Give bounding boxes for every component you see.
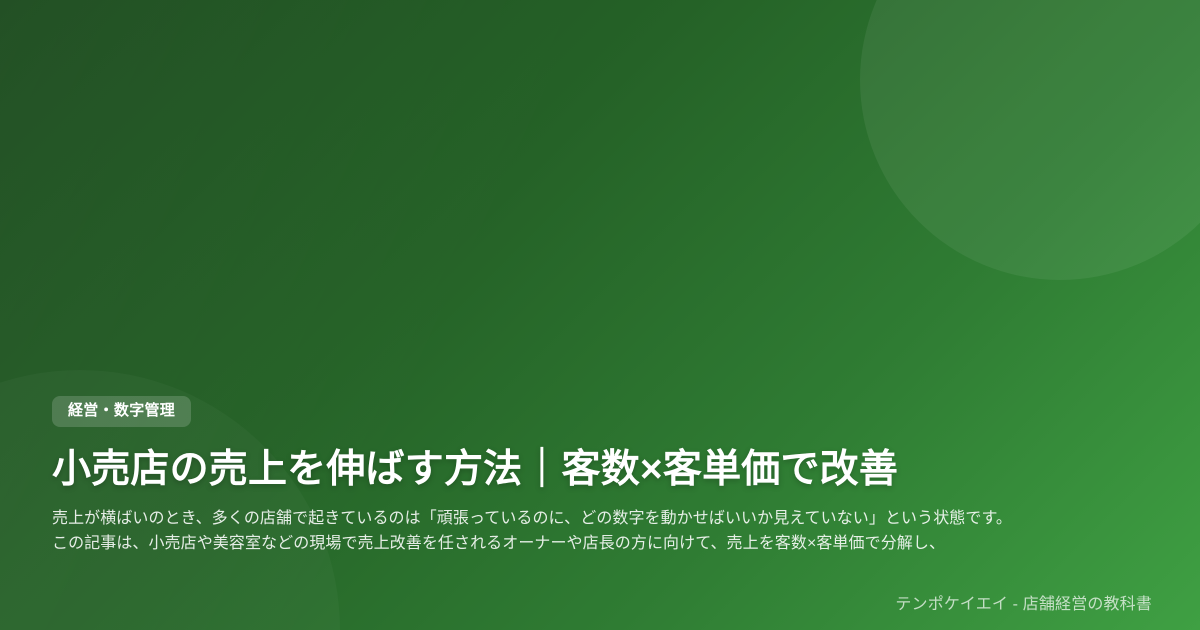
og-image-card: 経営・数字管理 小売店の売上を伸ばす方法｜客数×客単価で改善 売上が横ばいのとき… xyxy=(0,0,1200,630)
card-content: 経営・数字管理 小売店の売上を伸ばす方法｜客数×客単価で改善 売上が横ばいのとき… xyxy=(52,396,1148,556)
description-line-2: この記事は、小売店や美容室などの現場で売上改善を任されるオーナーや店長の方に向け… xyxy=(52,532,1012,556)
site-name-footer: テンポケイエイ - 店舗経営の教科書 xyxy=(895,594,1152,616)
decorative-circle-top-right xyxy=(860,0,1200,280)
category-badge: 経営・数字管理 xyxy=(52,396,191,427)
description-text: 売上が横ばいのとき、多くの店舗で起きているのは「頑張っているのに、どの数字を動か… xyxy=(52,507,1012,556)
page-title: 小売店の売上を伸ばす方法｜客数×客単価で改善 xyxy=(52,447,898,493)
description-line-1: 売上が横ばいのとき、多くの店舗で起きているのは「頑張っているのに、どの数字を動か… xyxy=(52,507,1012,531)
